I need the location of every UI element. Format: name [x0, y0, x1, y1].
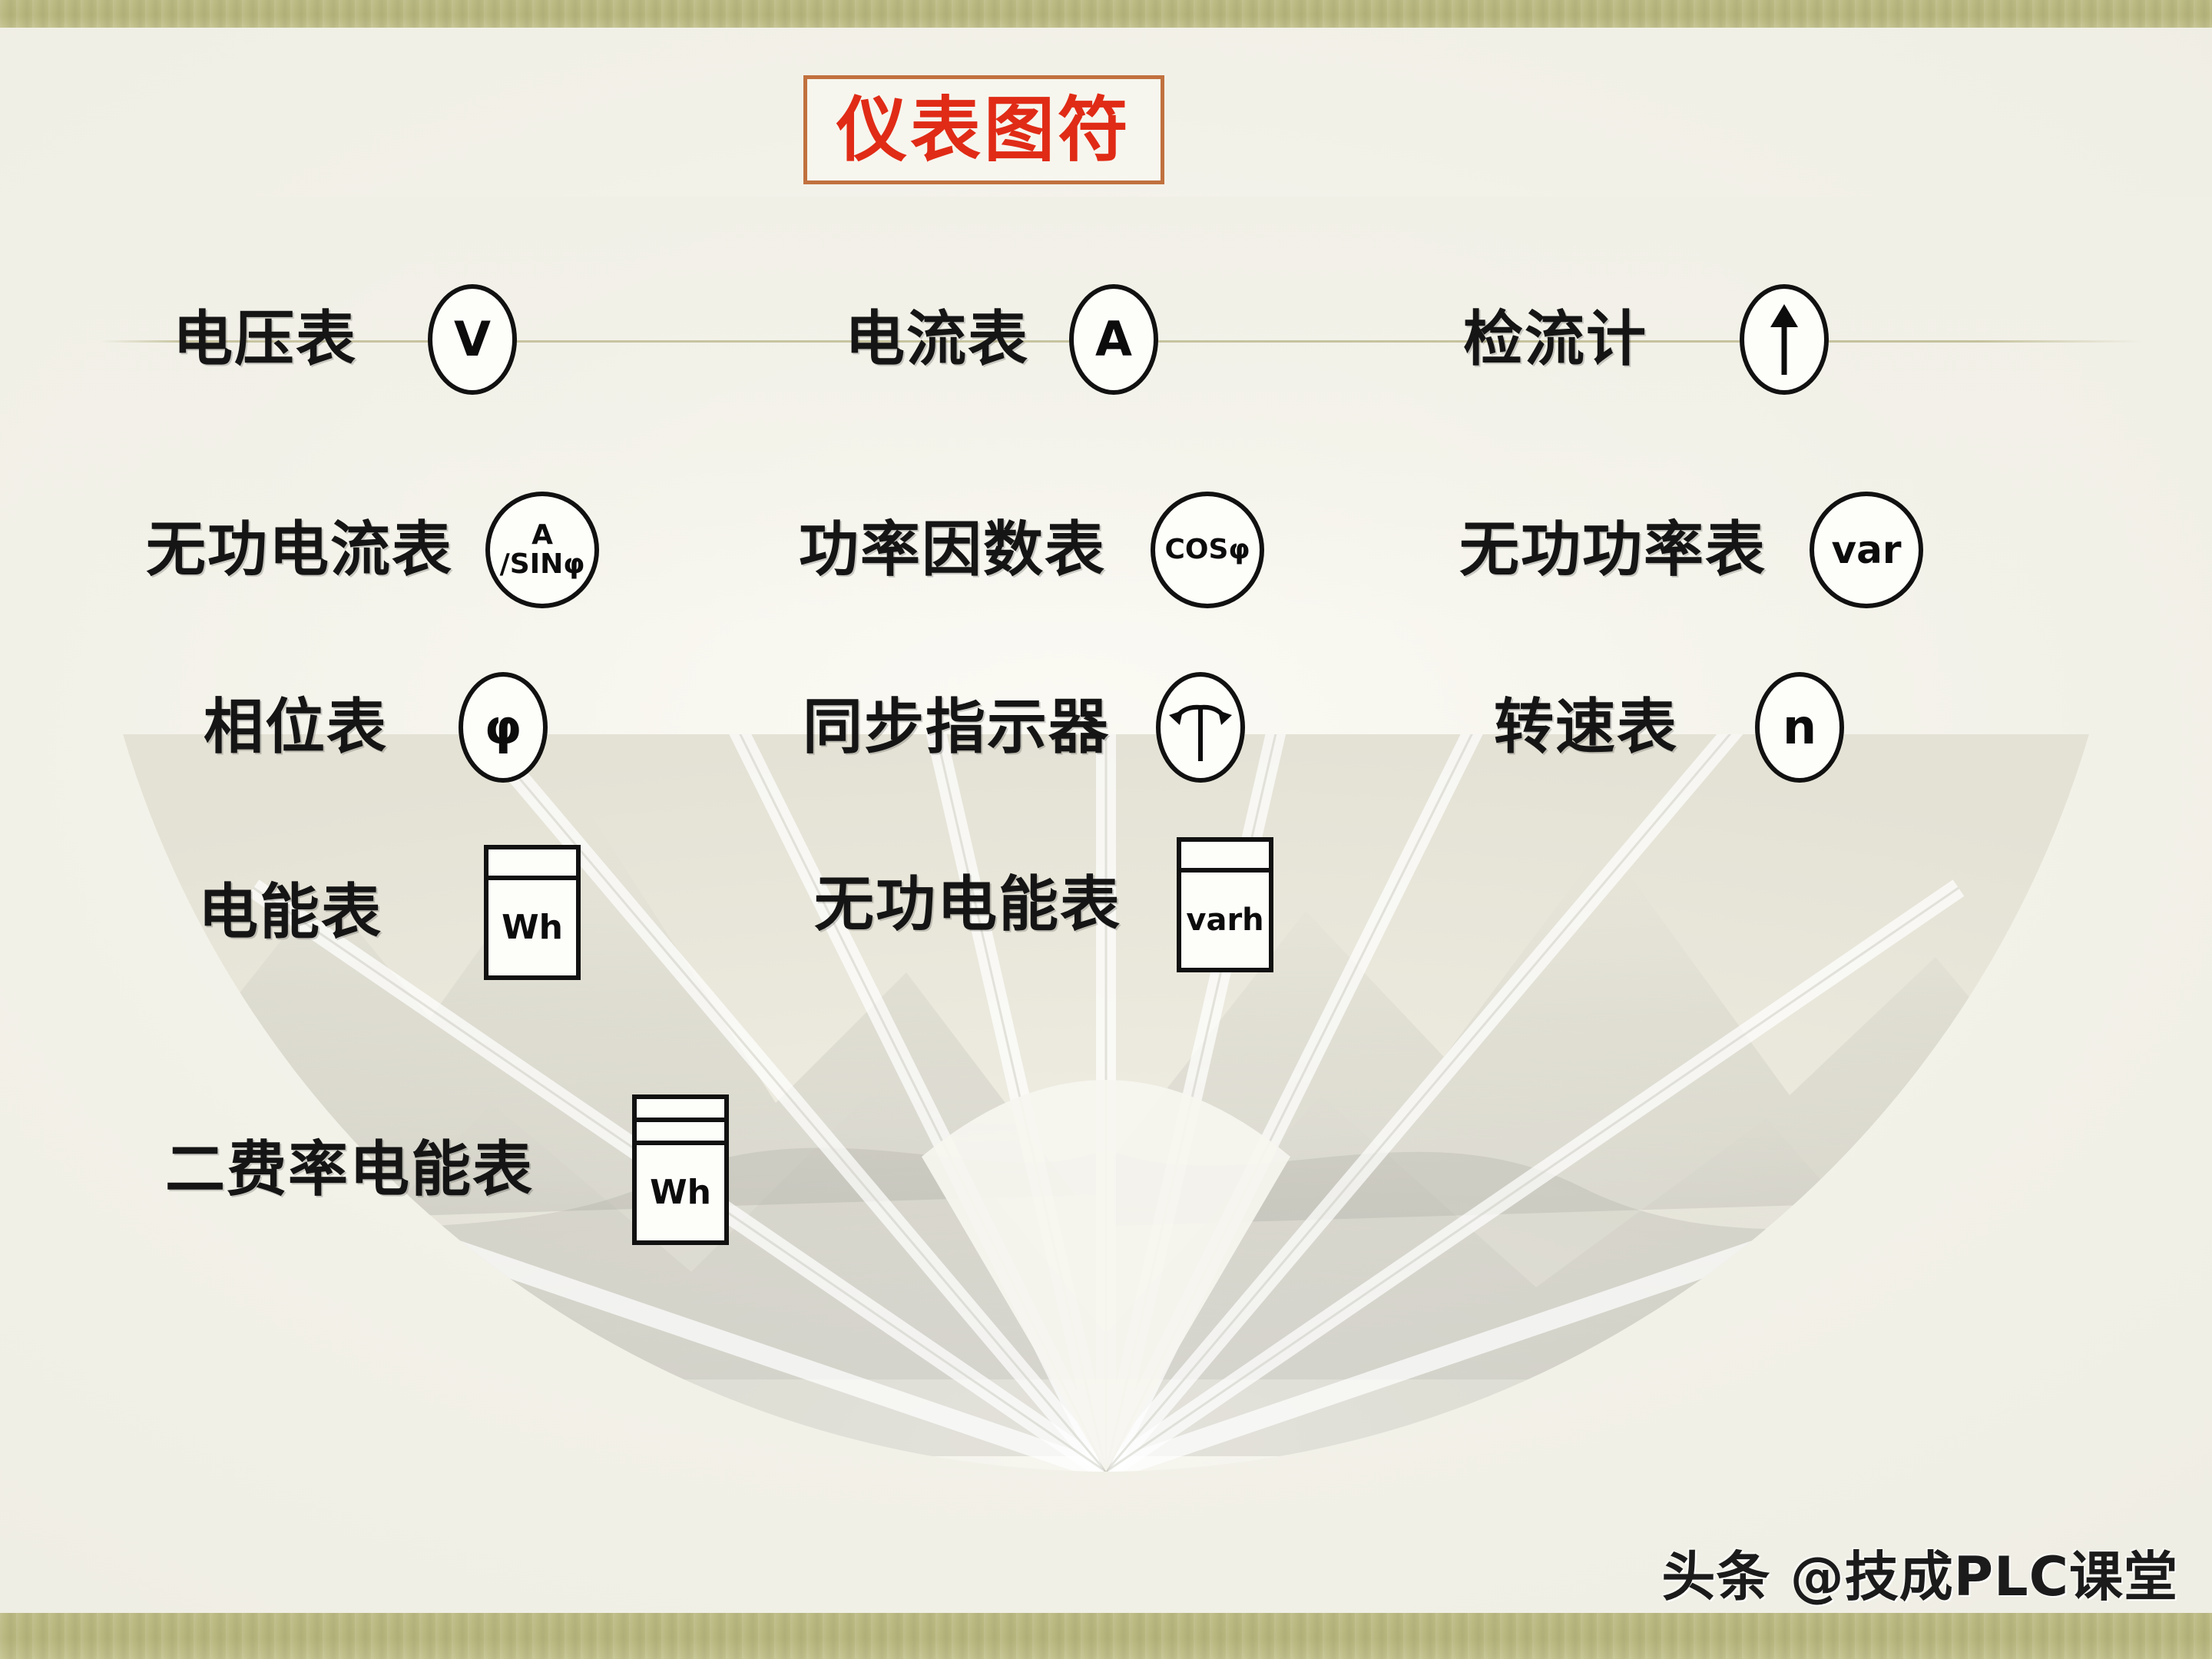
reactive-energy-meter-symbol: varh: [1177, 837, 1273, 972]
entry-synchroscope: 同步指示器: [803, 672, 1245, 783]
symbol-text-bottom: /SINφ: [500, 551, 585, 578]
ammeter-symbol: A: [1069, 284, 1158, 395]
entry-label: 转速表: [1494, 697, 1678, 757]
entry-label: 无功功率表: [1459, 520, 1767, 580]
reactive-power-meter-symbol: var: [1810, 492, 1923, 608]
entry-ammeter: 电流表 A: [845, 284, 1158, 395]
unit-area: Wh: [637, 1145, 724, 1240]
entry-label: 功率因数表: [799, 520, 1106, 580]
entry-label: 检流计: [1463, 310, 1647, 369]
symbol-text: COSφ: [1164, 536, 1250, 564]
synchroscope-double-arrow-icon: [1164, 689, 1237, 766]
symbol-text-top: A: [531, 522, 553, 549]
entry-label: 相位表: [204, 697, 388, 757]
register-band-2: [637, 1122, 724, 1145]
unit-area: varh: [1181, 873, 1269, 968]
entry-power-factor-meter: 功率因数表 COSφ: [799, 492, 1264, 608]
watt-hour-meter-symbol: Wh: [484, 845, 581, 980]
entry-label: 电能表: [198, 882, 382, 942]
entry-reactive-ammeter: 无功电流表 A /SINφ: [146, 492, 599, 608]
entry-label: 二费率电能表: [165, 1140, 534, 1200]
symbol-text: n: [1783, 704, 1816, 751]
symbol-text: A: [1095, 316, 1132, 363]
symbol-text: var: [1832, 531, 1902, 569]
entry-label: 同步指示器: [803, 697, 1110, 757]
entry-voltmeter: 电压表 V: [173, 284, 517, 395]
two-rate-energy-meter-symbol: Wh: [632, 1094, 729, 1245]
unit-area: Wh: [488, 880, 576, 975]
symbol-text: Wh: [502, 911, 563, 945]
register-band: [488, 849, 576, 880]
entry-label: 无功电能表: [814, 875, 1121, 935]
voltmeter-symbol: V: [428, 284, 517, 395]
reactive-ammeter-symbol: A /SINφ: [485, 492, 599, 608]
register-band-1: [637, 1099, 724, 1122]
symbol-text: Wh: [650, 1176, 711, 1210]
symbol-text: varh: [1186, 905, 1263, 935]
galvanometer-symbol: [1740, 284, 1829, 395]
power-factor-meter-symbol: COSφ: [1151, 492, 1264, 608]
entry-watt-hour-meter: 电能表 Wh: [198, 845, 581, 980]
top-decor-band: [0, 0, 2212, 28]
register-band: [1181, 842, 1269, 873]
entry-galvanometer: 检流计: [1463, 284, 1829, 395]
phase-meter-symbol: φ: [459, 672, 548, 783]
entry-label: 电流表: [845, 310, 1029, 369]
entry-tachometer: 转速表 n: [1494, 672, 1844, 783]
up-arrow-icon: [1761, 301, 1807, 378]
entry-label: 无功电流表: [146, 520, 453, 580]
entry-label: 电压表: [173, 310, 357, 369]
symbol-table: 电压表 V 电流表 A 检流计 无功电流表 A: [0, 0, 2212, 1659]
entry-reactive-power-meter: 无功功率表 var: [1459, 492, 1923, 608]
entry-two-rate-energy-meter: 二费率电能表 Wh: [165, 1094, 729, 1245]
synchroscope-symbol: [1156, 672, 1245, 783]
tachometer-symbol: n: [1755, 672, 1844, 783]
entry-reactive-energy-meter: 无功电能表 varh: [814, 837, 1273, 972]
symbol-text: V: [454, 316, 491, 363]
bottom-decor-band: [0, 1613, 2212, 1659]
footer-watermark: 头条 @技成PLC课堂: [1661, 1534, 2178, 1611]
symbol-text: φ: [485, 704, 522, 751]
entry-phase-meter: 相位表 φ: [204, 672, 548, 783]
slide-canvas: 仪表图符 电压表 V 电流表 A 检流计: [0, 0, 2212, 1659]
